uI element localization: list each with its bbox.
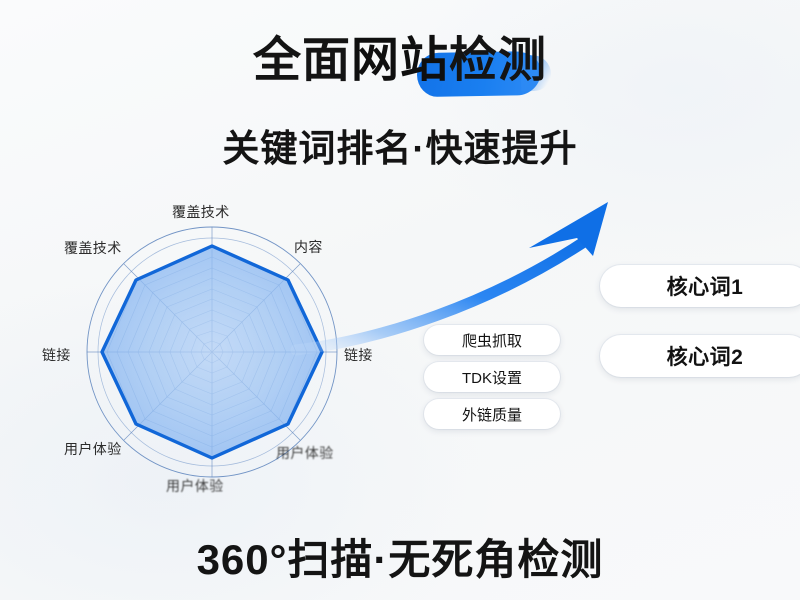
headline-highlight-text: 网站 [351,34,449,87]
pill-keyword-2[interactable]: 核心词2 [600,335,800,377]
headline-part-1: 全面 [253,34,351,87]
radar-data-polygon [102,246,322,458]
footline: 360°扫描·无死角检测 [0,526,800,587]
radar-label-right: 链接 [344,345,373,365]
radar-label-left: 链接 [42,345,71,365]
headline-part-2: 检测 [449,34,547,87]
pill-crawl-label: 爬虫抓取 [462,330,522,351]
radar-label-bottom: 用户体验 [166,476,224,496]
radar-chart: 覆盖技术 内容 链接 用户体验 用户体验 用户体验 链接 覆盖技术 [30,190,395,515]
pill-keyword-1-label: 核心词1 [667,271,744,301]
pill-tdk-label: TDK设置 [462,367,522,388]
radar-label-top-right: 内容 [294,237,323,257]
subheadline: 关键词排名·快速提升 [0,118,800,172]
pill-crawl[interactable]: 爬虫抓取 [424,325,560,355]
pill-keyword-1[interactable]: 核心词1 [600,265,800,307]
radar-label-bottom-left: 用户体验 [64,439,122,459]
radar-label-bottom-right: 用户体验 [276,443,334,463]
pill-backlink[interactable]: 外链质量 [424,399,560,429]
pill-backlink-label: 外链质量 [462,404,522,425]
pill-tdk[interactable]: TDK设置 [424,362,560,392]
poster-canvas: 全面网站检测 关键词排名·快速提升 [0,0,800,600]
pill-keyword-2-label: 核心词2 [667,341,744,371]
growth-arrow-head [529,202,608,256]
headline-area: 全面网站检测 [0,34,800,88]
page-title: 全面网站检测 [253,34,547,88]
radar-label-top: 覆盖技术 [172,202,230,222]
radar-label-top-left: 覆盖技术 [64,238,122,258]
